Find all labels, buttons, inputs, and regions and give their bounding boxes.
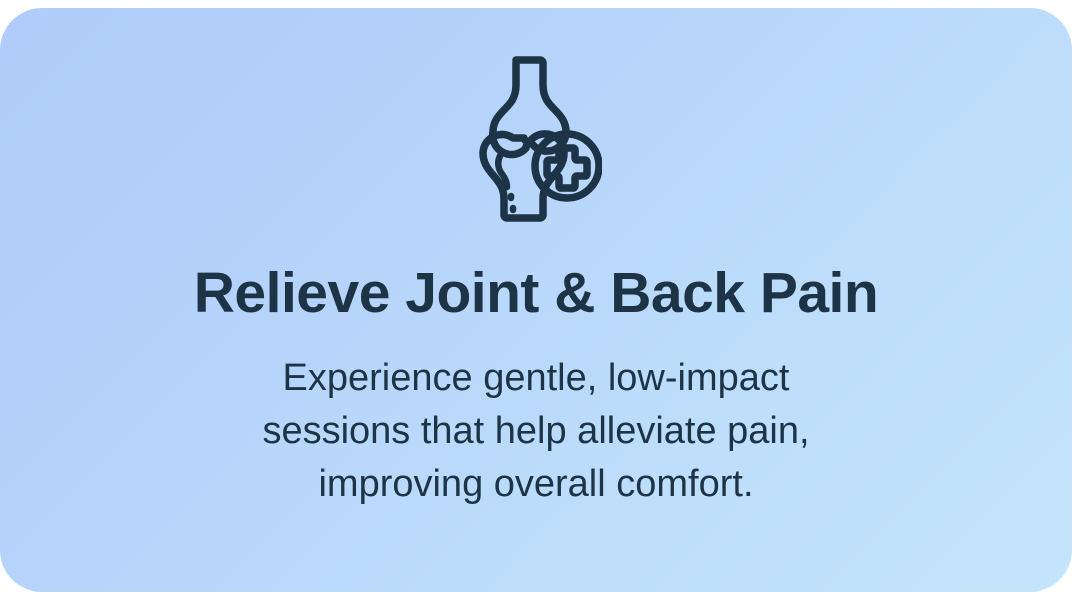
description-line-1: Experience gentle, low-impact [262, 352, 809, 405]
description-line-2: sessions that help alleviate pain, [262, 405, 809, 458]
description-line-3: improving overall comfort. [262, 458, 809, 511]
joint-bone-medical-icon [470, 56, 602, 224]
feature-card: Relieve Joint & Back Pain Experience gen… [0, 8, 1072, 592]
card-description: Experience gentle, low-impact sessions t… [262, 352, 809, 511]
card-heading: Relieve Joint & Back Pain [194, 265, 878, 322]
